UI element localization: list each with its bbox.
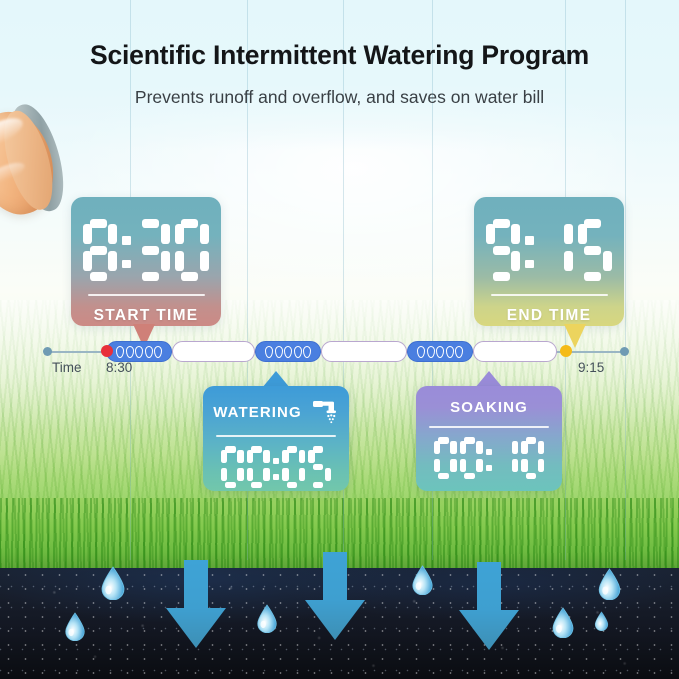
- lcd-digit: [578, 219, 612, 281]
- lcd-digit: [460, 437, 483, 479]
- start-time-value: [83, 219, 209, 281]
- lcd-digit: [495, 437, 518, 479]
- soaking-card: SOAKING: [416, 386, 562, 491]
- timeline-start-marker[interactable]: [101, 345, 113, 357]
- soaking-label: SOAKING: [450, 399, 528, 416]
- card-divider: [429, 426, 549, 428]
- lcd-digit: [434, 437, 457, 479]
- infiltration-arrow-3: [457, 562, 521, 652]
- timeline-soaking-segment[interactable]: [321, 341, 407, 362]
- infographic-stage: Scientific Intermittent Watering Program…: [0, 0, 679, 679]
- start-time-card: START TIME: [71, 197, 221, 326]
- water-drop-icon: [303, 346, 311, 358]
- lcd-digit: [175, 219, 209, 281]
- guide-line-6: [625, 0, 626, 560]
- water-droplet-5: [551, 607, 575, 638]
- timeline-soaking-segment[interactable]: [172, 341, 255, 362]
- water-drop-icon: [417, 346, 425, 358]
- timeline-watering-segment[interactable]: [407, 341, 473, 362]
- lcd-digit: [136, 219, 170, 281]
- lcd-digit: [282, 446, 305, 488]
- lcd-colon: [122, 219, 131, 281]
- infiltration-arrow-1: [164, 560, 228, 650]
- water-drop-icon: [294, 346, 302, 358]
- faucet-icon: [311, 399, 339, 425]
- lcd-digit: [221, 446, 244, 488]
- water-droplet-3: [256, 604, 278, 633]
- water-droplet-1: [100, 566, 126, 600]
- page-subtitle: Prevents runoff and overflow, and saves …: [0, 87, 679, 108]
- lcd-digit: [308, 446, 331, 488]
- water-drop-icon: [154, 346, 162, 358]
- timeline-start-label: 8:30: [106, 360, 132, 375]
- page-title: Scientific Intermittent Watering Program: [0, 40, 679, 71]
- timeline-end-label: 9:15: [578, 360, 604, 375]
- lcd-digit: [539, 219, 573, 281]
- timeline-end-marker[interactable]: [560, 345, 572, 357]
- timeline-axis-label: Time: [52, 360, 82, 375]
- timeline-watering-segment[interactable]: [106, 341, 172, 362]
- water-drop-icon: [265, 346, 273, 358]
- timeline-axis-dot-right: [620, 347, 629, 356]
- water-droplet-7: [594, 611, 609, 631]
- water-drop-icon: [145, 346, 153, 358]
- water-drop-icon: [275, 346, 283, 358]
- water-drop-icon: [135, 346, 143, 358]
- water-droplet-2: [64, 612, 86, 641]
- water-droplet-4: [411, 565, 434, 595]
- water-drop-icon: [446, 346, 454, 358]
- header-fade-overlay: [0, 0, 679, 150]
- timeline-watering-segment[interactable]: [255, 341, 321, 362]
- lcd-digit: [247, 446, 270, 488]
- water-drop-icon: [116, 346, 124, 358]
- card-divider: [491, 294, 608, 296]
- watering-label: WATERING: [213, 404, 302, 421]
- end-time-label: END TIME: [507, 307, 591, 325]
- water-drop-icon: [427, 346, 435, 358]
- water-drop-icon: [455, 346, 463, 358]
- lcd-colon: [486, 437, 492, 479]
- lcd-digit: [486, 219, 520, 281]
- water-drop-icon: [436, 346, 444, 358]
- infiltration-arrow-2: [303, 552, 367, 642]
- water-drop-icon: [126, 346, 134, 358]
- card-divider: [216, 435, 336, 437]
- lcd-digit: [521, 437, 544, 479]
- timeline-soaking-segment[interactable]: [473, 341, 557, 362]
- start-time-label: START TIME: [94, 307, 199, 325]
- timeline-axis-dot-left: [43, 347, 52, 356]
- lcd-colon: [273, 446, 279, 488]
- water-drop-icon: [284, 346, 292, 358]
- timeline-track[interactable]: [106, 341, 565, 362]
- end-time-card: END TIME: [474, 197, 624, 326]
- end-time-value: [486, 219, 612, 281]
- lcd-digit: [83, 219, 117, 281]
- water-droplet-6: [597, 568, 622, 600]
- watering-card: WATERING: [203, 386, 349, 491]
- lcd-colon: [525, 219, 534, 281]
- watering-duration-value: [221, 446, 331, 488]
- card-divider: [88, 294, 205, 296]
- soaking-duration-value: [434, 437, 544, 479]
